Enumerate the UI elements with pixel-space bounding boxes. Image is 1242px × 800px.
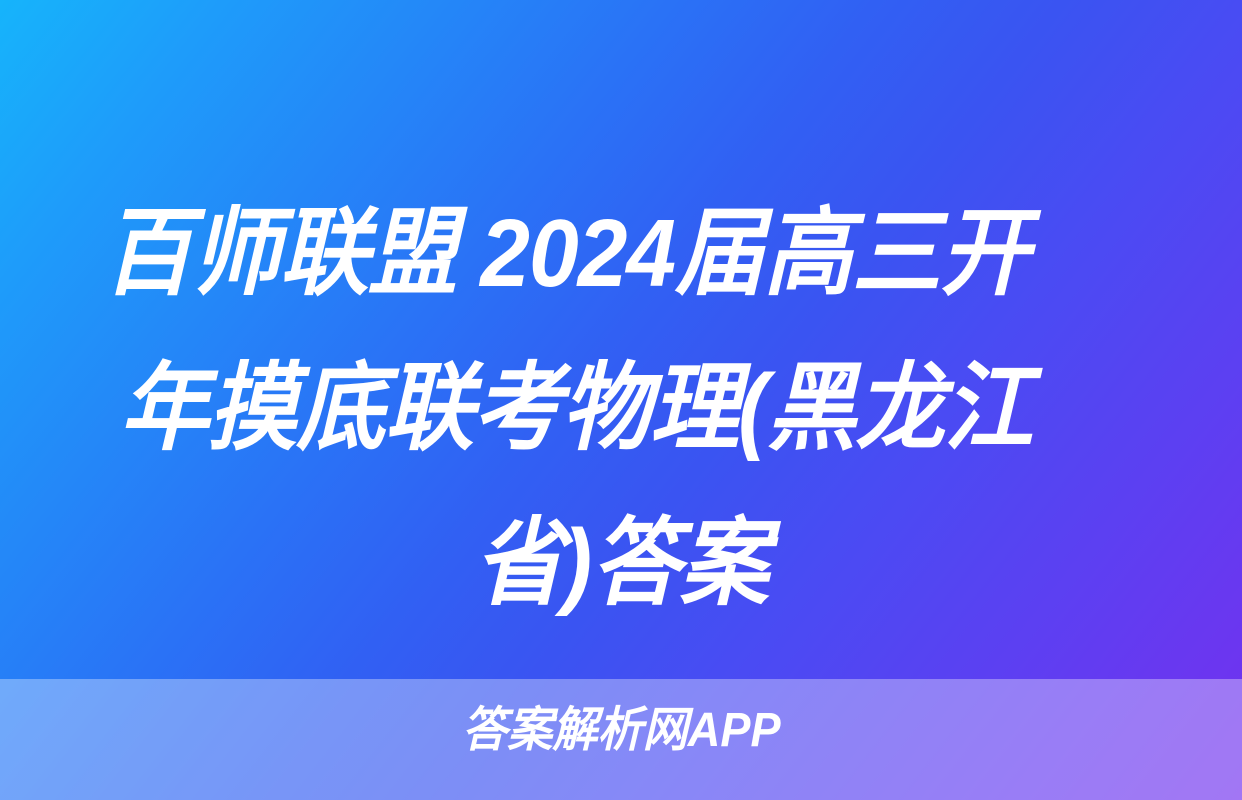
title-line-3: 省)答案	[99, 486, 1142, 641]
poster-title: 百师联盟 2024届高三开 年摸底联考物理(黑龙江 省)答案	[0, 176, 1242, 641]
title-line-1: 百师联盟 2024届高三开	[99, 176, 1142, 331]
footer-banner: 答案解析网APP	[0, 679, 1242, 800]
poster-container: 百师联盟 2024届高三开 年摸底联考物理(黑龙江 省)答案 答案解析网APP	[0, 0, 1242, 800]
title-line-2: 年摸底联考物理(黑龙江	[99, 331, 1142, 486]
app-watermark-label: 答案解析网APP	[462, 705, 780, 757]
